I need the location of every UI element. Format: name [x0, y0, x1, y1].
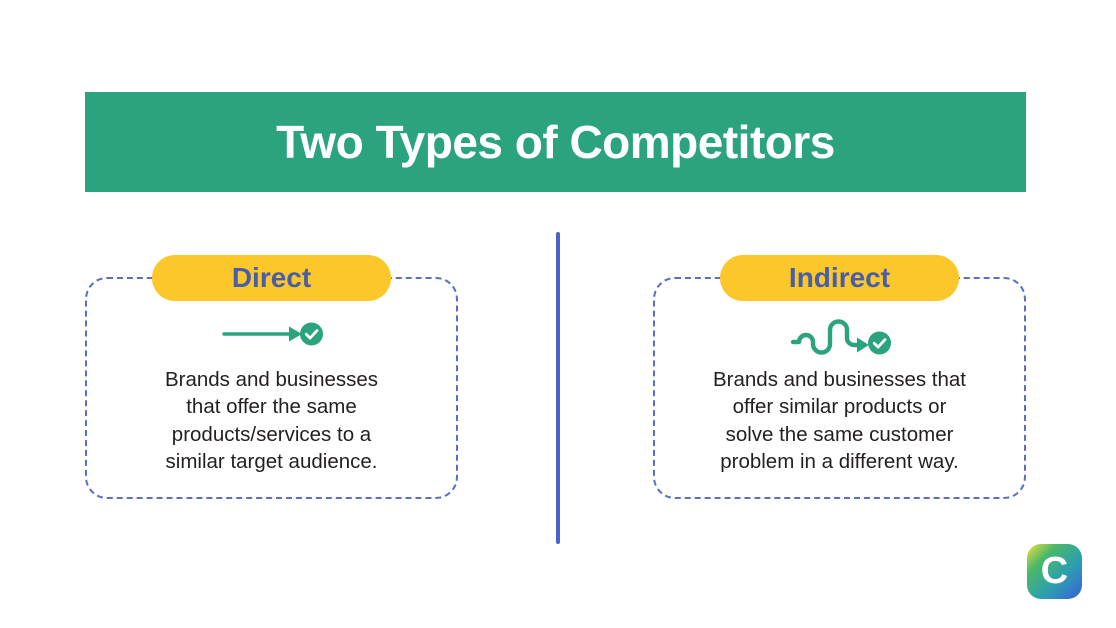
icon-row-indirect [653, 314, 1026, 358]
pill-label-direct: Direct [152, 255, 391, 301]
card-body-indirect: Brands and businesses that offer similar… [653, 366, 1026, 475]
pill-label-direct-text: Direct [232, 264, 311, 292]
header-banner: Two Types of Competitors [85, 92, 1026, 192]
pill-label-indirect: Indirect [720, 255, 959, 301]
page-title: Two Types of Competitors [276, 119, 835, 165]
pill-label-indirect-text: Indirect [789, 264, 890, 292]
brand-logo: C [1027, 544, 1082, 599]
wavy-arrow-check-icon [789, 312, 891, 361]
card-body-direct: Brands and businesses that offer the sam… [85, 366, 458, 475]
straight-arrow-check-icon [221, 317, 323, 356]
brand-logo-letter: C [1041, 552, 1068, 590]
icon-row-direct [85, 314, 458, 358]
vertical-divider [556, 232, 560, 544]
